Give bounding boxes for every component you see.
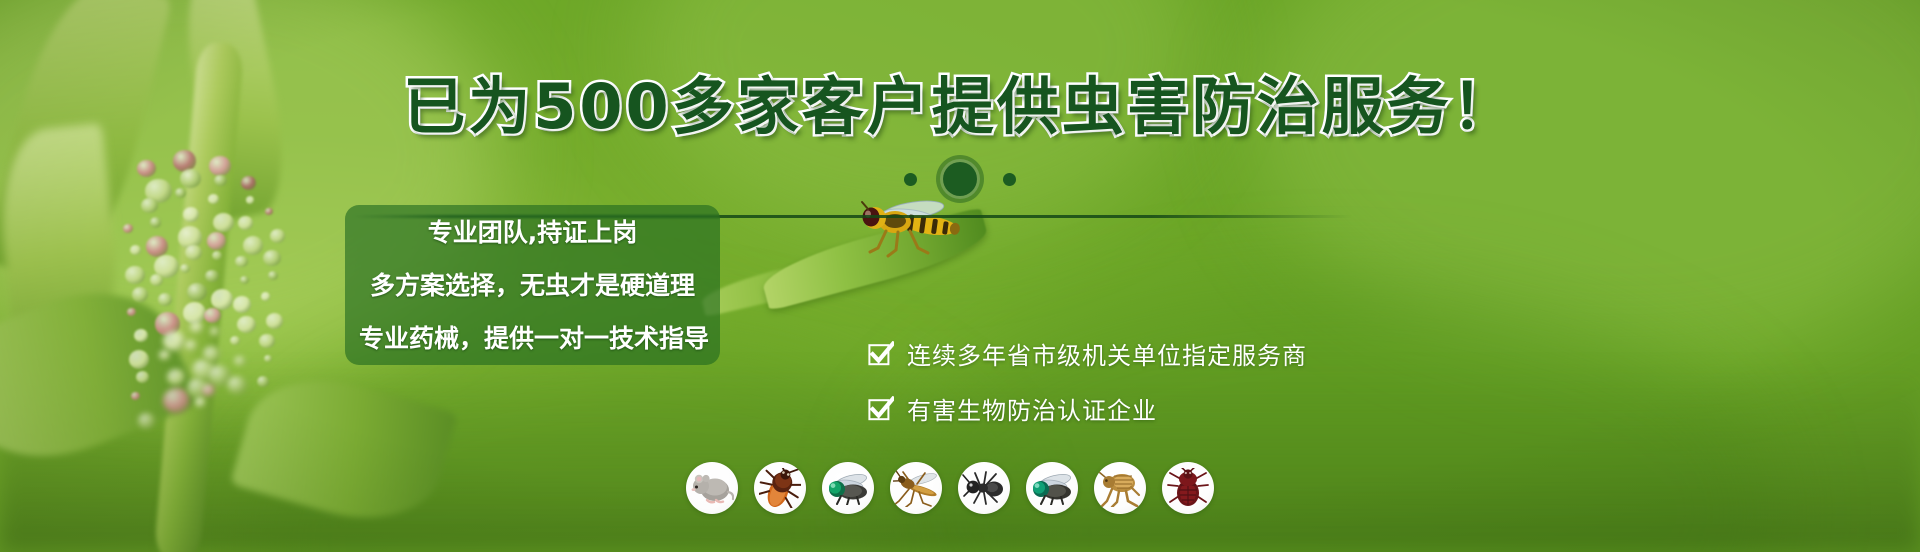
- promo-banner: 已为500多家客户提供虫害防治服务！ 专业团队,持证上岗 多方案选择，无虫才是硬…: [0, 0, 1920, 552]
- checkbox-checked-icon: [868, 341, 894, 367]
- feature-panel-line-1: 专业团队,持证上岗: [359, 213, 706, 249]
- list-item-label: 有害生物防治认证企业: [907, 391, 1157, 426]
- mosquito-icon[interactable]: [890, 462, 942, 514]
- cockroach-icon[interactable]: [754, 462, 806, 514]
- feature-panel: 专业团队,持证上岗 多方案选择，无虫才是硬道理 专业药械，提供一对一技术指导: [345, 205, 720, 365]
- dot-large-center: [943, 162, 977, 196]
- checkbox-checked-icon: [868, 396, 894, 422]
- list-item: 连续多年省市级机关单位指定服务商: [868, 336, 1307, 371]
- fly-icon[interactable]: [822, 462, 874, 514]
- ant-icon[interactable]: [958, 462, 1010, 514]
- flea-icon[interactable]: [1094, 462, 1146, 514]
- pest-icon-row: [686, 462, 1214, 514]
- credentials-checklist: 连续多年省市级机关单位指定服务商 有害生物防治认证企业: [868, 336, 1307, 426]
- list-item: 有害生物防治认证企业: [868, 391, 1307, 426]
- bedbug-icon[interactable]: [1162, 462, 1214, 514]
- page-title: 已为500多家客户提供虫害防治服务！: [0, 76, 1920, 138]
- dot-small-right: [1003, 173, 1016, 186]
- rodent-icon[interactable]: [686, 462, 738, 514]
- page-title-text: 已为500多家客户提供虫害防治服务！: [403, 70, 1516, 143]
- blowfly-icon[interactable]: [1026, 462, 1078, 514]
- list-item-label: 连续多年省市级机关单位指定服务商: [907, 336, 1307, 371]
- feature-panel-line-3: 专业药械，提供一对一技术指导: [359, 319, 706, 355]
- dot-small-left: [904, 173, 917, 186]
- feature-panel-line-2: 多方案选择，无虫才是硬道理: [359, 266, 706, 302]
- decorative-dots: [0, 162, 1920, 196]
